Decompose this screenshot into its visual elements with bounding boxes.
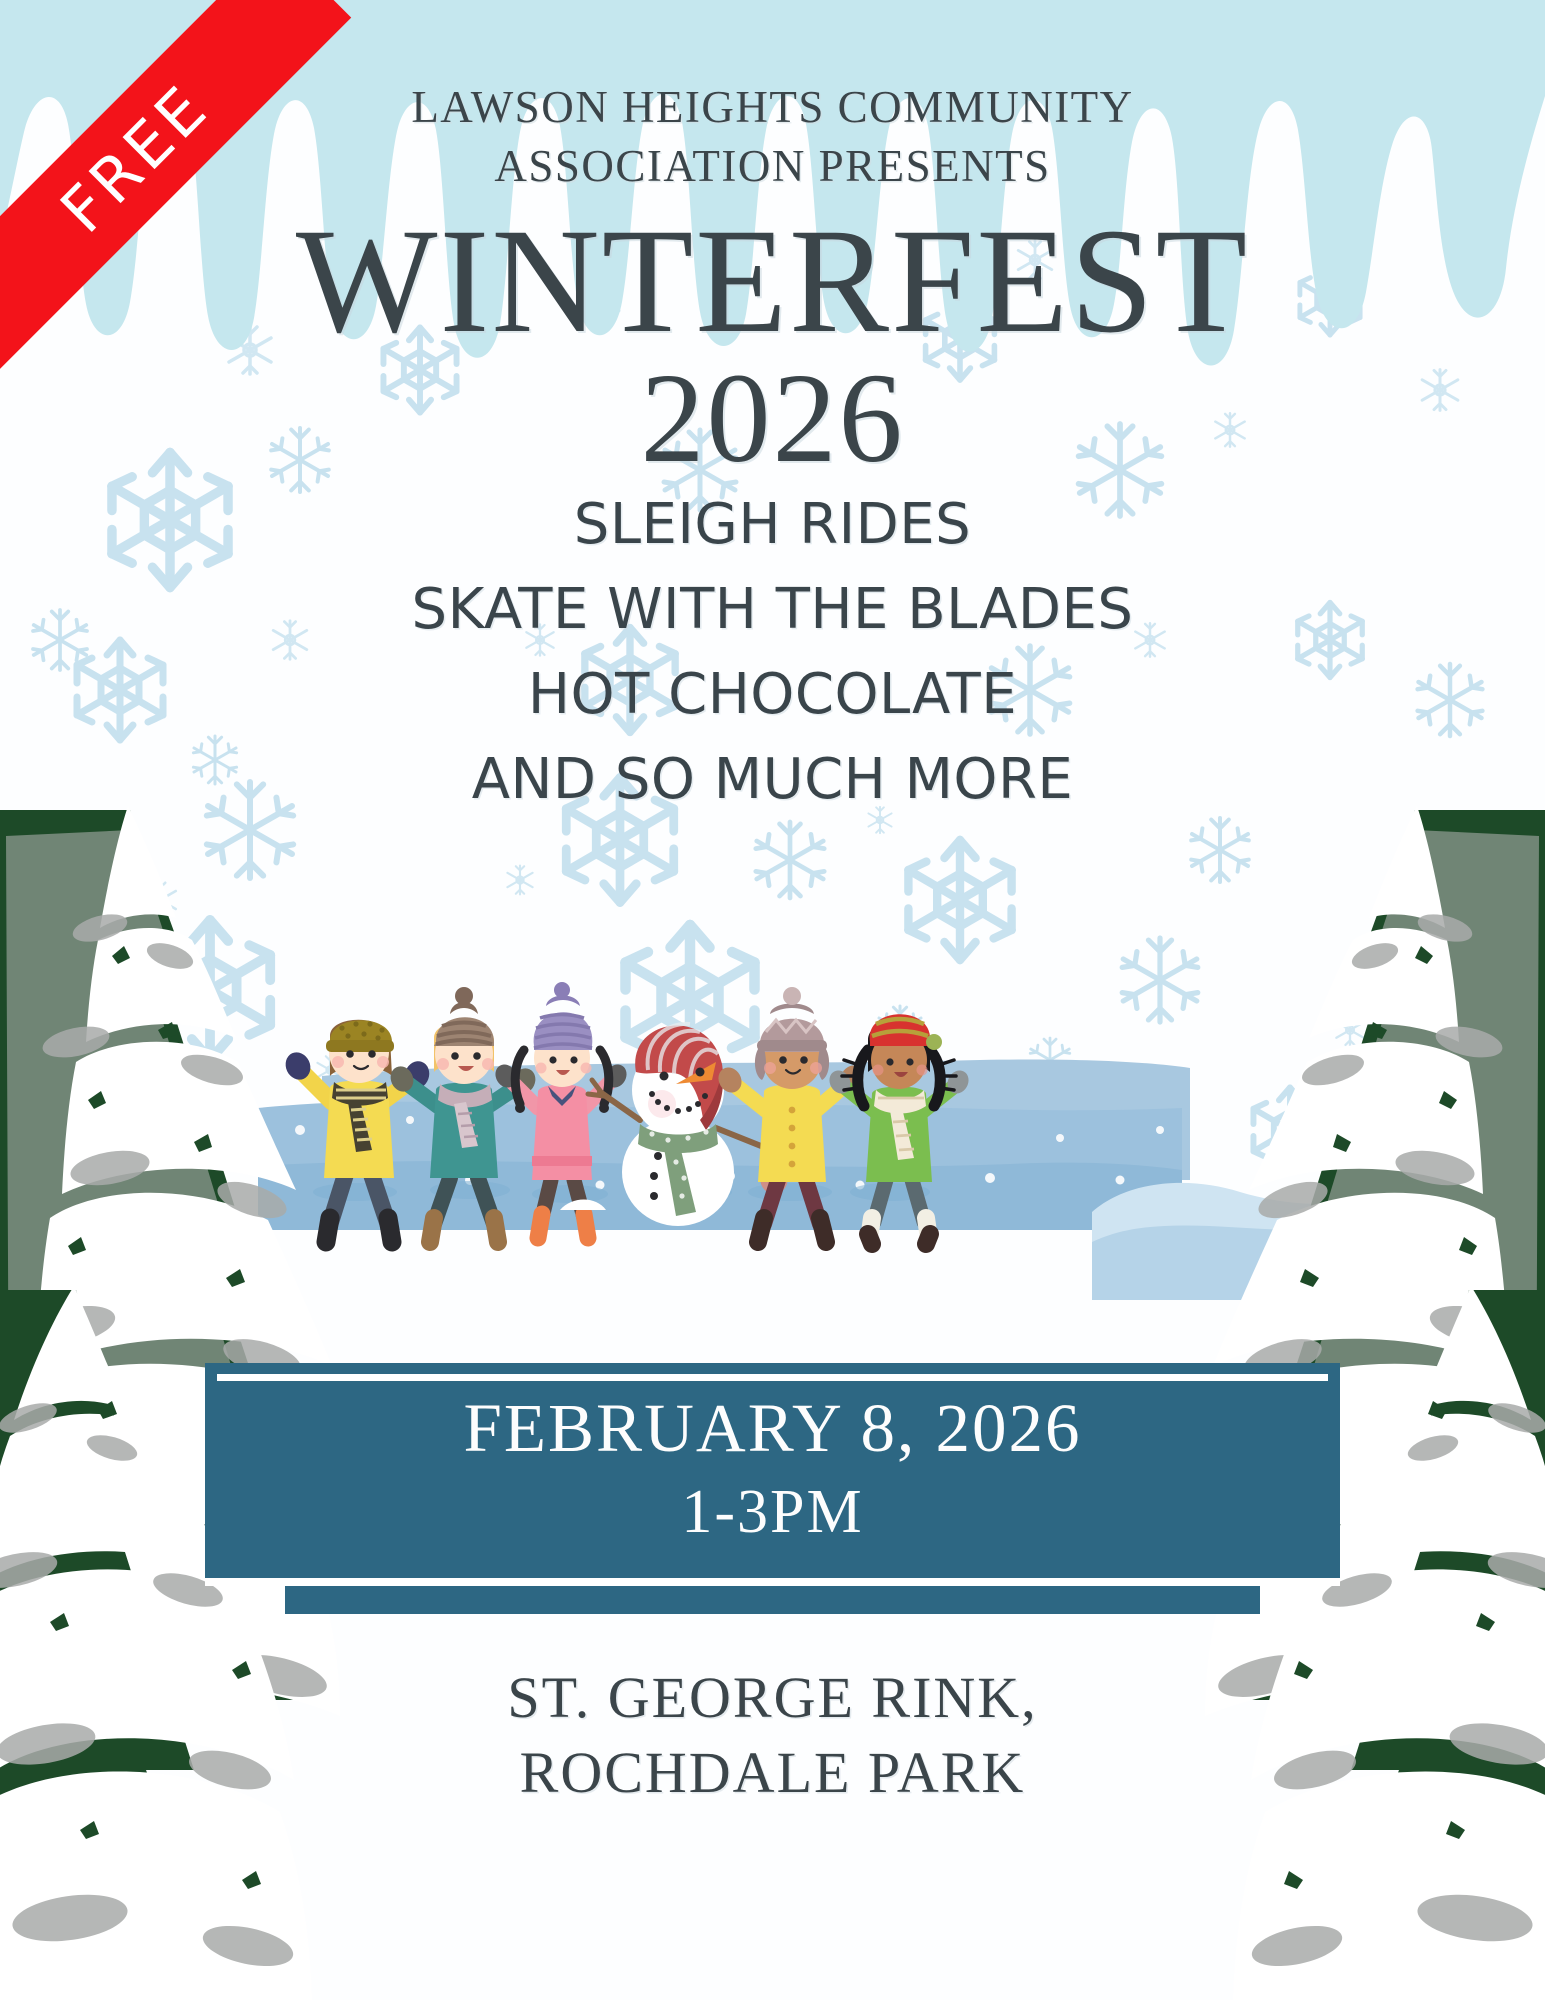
event-location: ST. GEORGE RINK, ROCHDALE PARK <box>0 1660 1545 1811</box>
event-time: 1-3PM <box>205 1481 1340 1543</box>
banner-foot-strip <box>285 1586 1260 1614</box>
page-title: WINTERFEST <box>0 209 1545 353</box>
header-block: LAWSON HEIGHTS COMMUNITY ASSOCIATION PRE… <box>0 78 1545 484</box>
activity-item: SLEIGH RIDES <box>0 482 1545 567</box>
page-title-year: 2026 <box>0 353 1545 484</box>
event-date-banner: FEBRUARY 8, 2026 1-3PM <box>205 1363 1340 1578</box>
activity-item: SKATE WITH THE BLADES <box>0 567 1545 652</box>
banner-underline <box>205 1578 1340 1586</box>
presenter-line-2: ASSOCIATION PRESENTS <box>0 137 1545 196</box>
activity-item: HOT CHOCOLATE <box>0 652 1545 737</box>
location-line-1: ST. GEORGE RINK, <box>0 1660 1545 1735</box>
event-date: FEBRUARY 8, 2026 <box>205 1394 1340 1463</box>
activities-list: SLEIGH RIDES SKATE WITH THE BLADES HOT C… <box>0 482 1545 822</box>
activity-item: AND SO MUCH MORE <box>0 737 1545 822</box>
location-line-2: ROCHDALE PARK <box>0 1735 1545 1810</box>
winterfest-poster: LAWSON HEIGHTS COMMUNITY ASSOCIATION PRE… <box>0 0 1545 2000</box>
